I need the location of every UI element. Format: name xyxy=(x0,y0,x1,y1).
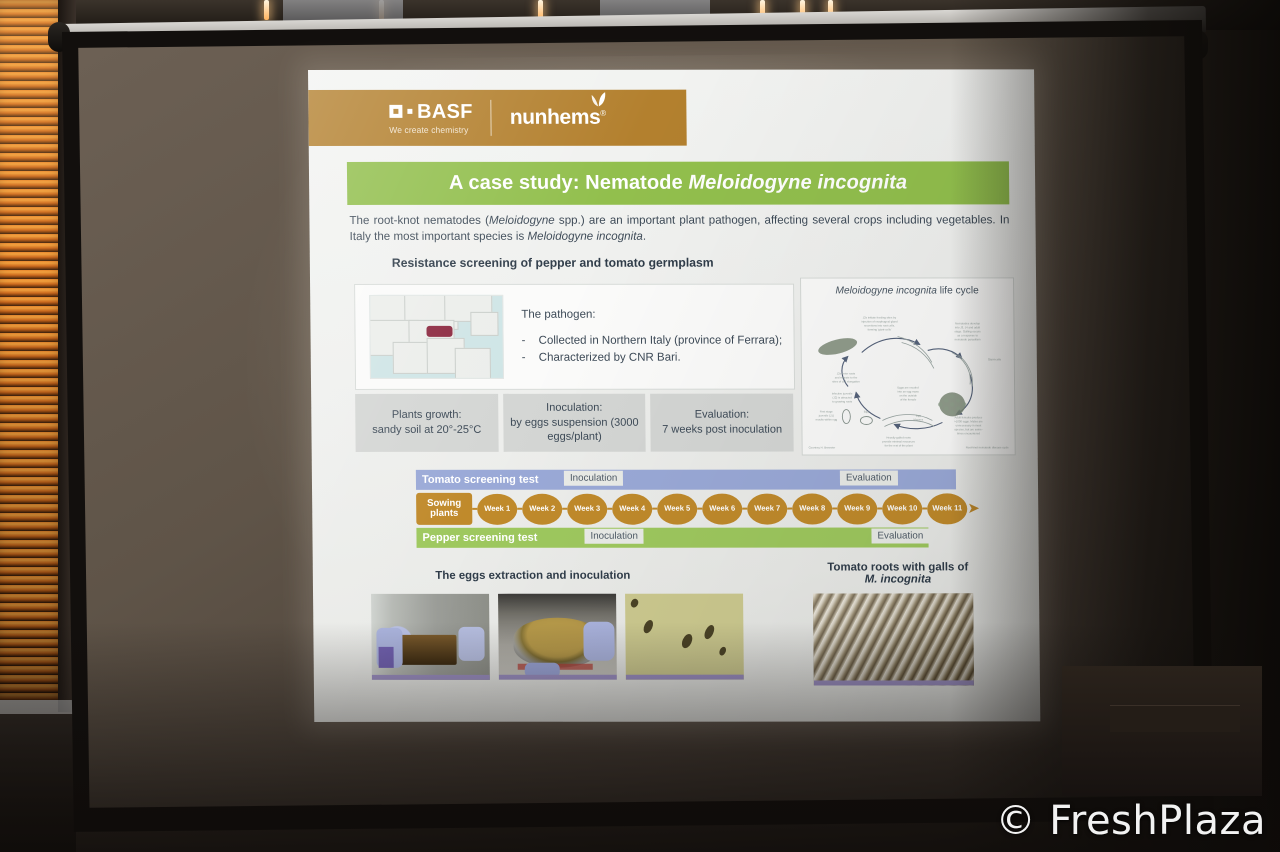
italy-map xyxy=(369,295,504,379)
brand-header-band: BASF We create chemistry nunhems® xyxy=(308,90,687,146)
timeline-week-4: Week 4 xyxy=(612,493,652,524)
nunhems-wordmark: nunhems xyxy=(510,106,601,129)
pathogen-text: The pathogen: - Collected in Northern It… xyxy=(521,307,782,366)
slide-title-prefix: A case study: Nematode xyxy=(449,172,689,194)
svg-text:moults within egg: moults within egg xyxy=(816,418,838,422)
intro-paragraph: The root-knot nematodes (Meloidogyne spp… xyxy=(349,212,1009,245)
timeline-tomato-label: Tomato screening test xyxy=(422,474,539,486)
intro-part-1: The root-knot nematodes ( xyxy=(349,214,489,227)
svg-text:of the female: of the female xyxy=(900,397,917,401)
svg-text:sites of cell elongation: sites of cell elongation xyxy=(832,380,860,384)
svg-text:Masses: Masses xyxy=(914,417,924,421)
timeline-week-8: Week 8 xyxy=(792,493,832,524)
method-box-plants-growth: Plants growth: sandy soil at 20°-25°C xyxy=(355,394,498,452)
svg-text:Egg: Egg xyxy=(864,409,869,413)
pathogen-heading: The pathogen: xyxy=(521,307,782,324)
svg-text:to growing roots: to growing roots xyxy=(832,400,853,404)
basf-wordmark: BASF xyxy=(417,101,473,121)
slide-title-species: Meloidogyne incognita xyxy=(688,171,907,193)
room-scene: BASF We create chemistry nunhems® A case… xyxy=(0,0,1280,852)
tag-pepper-inoculation: Inoculation xyxy=(584,529,644,544)
lifecycle-title-species: Meloidogyne incognita xyxy=(835,285,937,296)
method-detail-2: by eggs suspension (3000 eggs/plant) xyxy=(510,416,639,443)
timeline-week-9: Week 9 xyxy=(837,493,877,524)
watermark: © FreshPlaza xyxy=(996,798,1266,844)
pathogen-bullet-1: - Collected in Northern Italy (province … xyxy=(522,333,783,350)
pathogen-bullet-2: - Characterized by CNR Bari. xyxy=(522,349,783,366)
tag-pepper-evaluation: Evaluation xyxy=(871,528,929,543)
timeline-pepper-label: Pepper screening test xyxy=(422,532,537,544)
section-heading: Resistance screening of pepper and tomat… xyxy=(392,256,714,270)
svg-text:forming 'giant-cells': forming 'giant-cells' xyxy=(868,327,892,331)
svg-text:Courtesy H. Brewster: Courtesy H. Brewster xyxy=(809,446,836,450)
svg-text:for the rest of the plant: for the rest of the plant xyxy=(885,443,913,447)
timeline-week-7: Week 7 xyxy=(747,493,787,524)
method-title-3: Evaluation: xyxy=(695,409,750,421)
timeline-week-6: Week 6 xyxy=(702,493,742,524)
pathogen-bullet-1-text: Collected in Northern Italy (province of… xyxy=(539,333,783,350)
method-title-2: Inoculation: xyxy=(546,402,602,414)
timeline-week-5: Week 5 xyxy=(657,493,697,524)
logo-divider xyxy=(491,100,492,136)
basf-dot-icon xyxy=(407,109,412,114)
bullet-marker-1: - xyxy=(522,333,529,350)
method-box-inoculation: Inoculation: by eggs suspension (3000 eg… xyxy=(503,394,646,452)
pathogen-panel: The pathogen: - Collected in Northern It… xyxy=(354,284,795,390)
photos-left-caption: The eggs extraction and inoculation xyxy=(373,570,693,582)
screening-timeline: Tomato screening test Inoculation Evalua… xyxy=(416,469,957,547)
method-box-evaluation: Evaluation: 7 weeks post inoculation xyxy=(650,394,793,452)
nunhems-registered-mark: ® xyxy=(600,109,606,118)
intro-part-3: . xyxy=(643,230,646,243)
room-furniture-edge xyxy=(1110,705,1240,732)
timeline-pepper-bar: Pepper screening test xyxy=(416,527,928,547)
intro-species-1: Meloidogyne xyxy=(489,214,555,227)
pathogen-bullet-2-text: Characterized by CNR Bari. xyxy=(539,349,681,366)
tag-tomato-inoculation: Inoculation xyxy=(564,471,624,486)
basf-square-icon xyxy=(389,105,402,118)
intro-species-2: Meloidogyne incognita xyxy=(527,230,643,243)
basf-logo: BASF We create chemistry xyxy=(389,101,473,134)
nunhems-logo: nunhems® xyxy=(510,106,606,130)
basf-tagline: We create chemistry xyxy=(389,124,468,134)
ceiling-light-1 xyxy=(264,0,269,20)
timeline-sowing-plants: Sowingplants xyxy=(416,493,472,525)
map-highlight-ferrara xyxy=(426,326,452,337)
timeline-week-1: Week 1 xyxy=(477,493,517,524)
bullet-marker-2: - xyxy=(522,350,529,367)
slide-title-band: A case study: Nematode Meloidogyne incog… xyxy=(347,161,1009,205)
photos-right-caption-line2: M. incognita xyxy=(865,573,932,585)
tag-tomato-evaluation: Evaluation xyxy=(840,470,898,485)
leaf-icon xyxy=(591,91,608,108)
timeline-week-2: Week 2 xyxy=(522,493,562,524)
method-detail-1: sandy soil at 20°-25°C xyxy=(372,424,481,436)
timeline-week-10: Week 10 xyxy=(882,493,922,524)
timeline-week-3: Week 3 xyxy=(567,493,607,524)
method-box-row: Plants growth: sandy soil at 20°-25°C In… xyxy=(355,394,794,452)
timeline-weeks-row: SowingplantsWeek 1Week 2Week 3Week 4Week… xyxy=(416,491,956,525)
method-title-1: Plants growth: xyxy=(392,409,462,421)
photos-right-caption-line1: Tomato roots with galls of xyxy=(827,561,968,573)
method-detail-3: 7 weeks post inoculation xyxy=(662,424,782,436)
